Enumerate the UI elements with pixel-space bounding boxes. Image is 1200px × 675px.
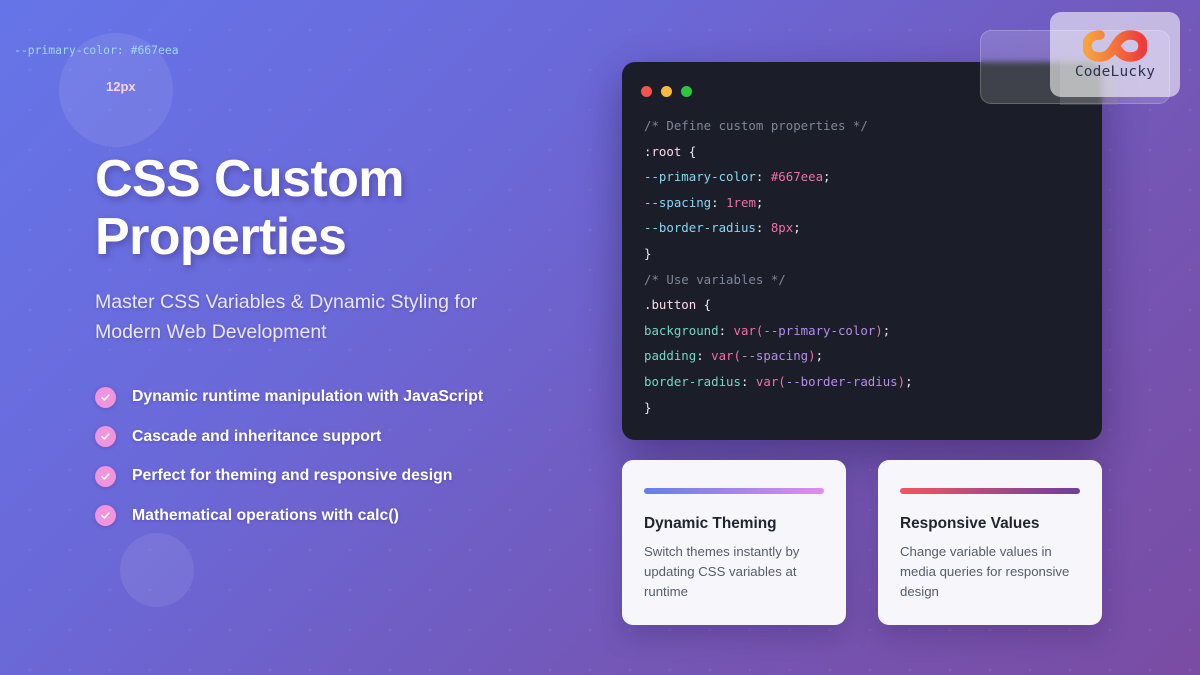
card-accent-bar xyxy=(644,488,824,494)
code-token: : xyxy=(719,323,734,338)
code-token: ; xyxy=(816,348,823,363)
badge-variable-text: --primary-color: #667eea xyxy=(14,43,179,57)
code-token: --border-radius xyxy=(786,374,898,389)
code-token: { xyxy=(696,297,711,312)
code-token: border-radius xyxy=(644,374,741,389)
code-token: 8px xyxy=(771,220,793,235)
code-token: /* Use variables */ xyxy=(644,272,786,287)
code-token: ) xyxy=(875,323,882,338)
watermark-label: CodeLucky xyxy=(1075,64,1155,80)
code-token: --spacing xyxy=(644,195,711,210)
check-circle-icon xyxy=(95,466,116,487)
code-token: ) xyxy=(808,348,815,363)
feature-cards-row: Dynamic ThemingSwitch themes instantly b… xyxy=(622,460,1102,625)
check-circle-icon xyxy=(95,387,116,408)
code-token: ; xyxy=(883,323,890,338)
code-token: 1rem xyxy=(726,195,756,210)
code-token: --border-radius xyxy=(644,220,756,235)
code-token: ) xyxy=(898,374,905,389)
watermark: CodeLucky xyxy=(1050,12,1180,97)
check-circle-icon xyxy=(95,426,116,447)
card-accent-bar xyxy=(900,488,1080,494)
badge-size-text: 12px xyxy=(106,79,136,94)
code-token: ; xyxy=(793,220,800,235)
feature-list-item-label: Mathematical operations with calc() xyxy=(132,507,399,525)
code-token: .button xyxy=(644,297,696,312)
code-token: --primary-color xyxy=(644,169,756,184)
code-token: ; xyxy=(756,195,763,210)
minimize-icon[interactable] xyxy=(661,86,672,97)
code-token: background xyxy=(644,323,719,338)
code-token: var( xyxy=(711,348,741,363)
feature-list-item-label: Dynamic runtime manipulation with JavaSc… xyxy=(132,388,483,406)
feature-list: Dynamic runtime manipulation with JavaSc… xyxy=(95,387,595,527)
code-token: : xyxy=(696,348,711,363)
code-token: ; xyxy=(905,374,912,389)
code-token: #667eea xyxy=(771,169,823,184)
code-line: :root { xyxy=(644,139,1094,165)
code-token: --spacing xyxy=(741,348,808,363)
code-token: var( xyxy=(756,374,786,389)
code-token: var( xyxy=(734,323,764,338)
check-circle-icon xyxy=(95,505,116,526)
feature-list-item-label: Cascade and inheritance support xyxy=(132,428,381,446)
feature-list-item: Cascade and inheritance support xyxy=(95,426,595,447)
code-line: --border-radius: 8px; xyxy=(644,215,1094,241)
infinity-logo-icon xyxy=(1083,29,1147,63)
code-line: --primary-color: #667eea; xyxy=(644,164,1094,190)
code-token: } xyxy=(644,400,651,415)
page-subtitle: Master CSS Variables & Dynamic Styling f… xyxy=(95,288,595,347)
window-controls xyxy=(641,86,692,97)
code-line: background: var(--primary-color); xyxy=(644,318,1094,344)
code-token: : xyxy=(756,220,771,235)
code-token: : xyxy=(711,195,726,210)
feature-list-item: Perfect for theming and responsive desig… xyxy=(95,466,595,487)
code-token: { xyxy=(681,144,696,159)
feature-card: Dynamic ThemingSwitch themes instantly b… xyxy=(622,460,846,625)
code-line: .button { xyxy=(644,292,1094,318)
code-line: --spacing: 1rem; xyxy=(644,190,1094,216)
card-title: Dynamic Theming xyxy=(644,515,824,533)
code-token: : xyxy=(741,374,756,389)
code-block: /* Define custom properties */:root {--p… xyxy=(644,113,1094,420)
code-token: } xyxy=(644,246,651,261)
feature-list-item: Mathematical operations with calc() xyxy=(95,505,595,526)
code-line: padding: var(--spacing); xyxy=(644,343,1094,369)
code-token: :root xyxy=(644,144,681,159)
feature-card: Responsive ValuesChange variable values … xyxy=(878,460,1102,625)
code-token: padding xyxy=(644,348,696,363)
card-description: Change variable values in media queries … xyxy=(900,542,1080,601)
code-token: : xyxy=(756,169,771,184)
feature-list-item-label: Perfect for theming and responsive desig… xyxy=(132,467,452,485)
maximize-icon[interactable] xyxy=(681,86,692,97)
hero-section: CSS Custom Properties Master CSS Variabl… xyxy=(95,150,595,545)
card-description: Switch themes instantly by updating CSS … xyxy=(644,542,824,601)
code-line: border-radius: var(--border-radius); xyxy=(644,369,1094,395)
code-token: /* Define custom properties */ xyxy=(644,118,868,133)
code-line: /* Define custom properties */ xyxy=(644,113,1094,139)
code-line: } xyxy=(644,395,1094,421)
code-token: ; xyxy=(823,169,830,184)
code-line: /* Use variables */ xyxy=(644,267,1094,293)
feature-list-item: Dynamic runtime manipulation with JavaSc… xyxy=(95,387,595,408)
page-title: CSS Custom Properties xyxy=(95,150,595,266)
code-line: } xyxy=(644,241,1094,267)
code-token: --primary-color xyxy=(763,323,875,338)
card-title: Responsive Values xyxy=(900,515,1080,533)
close-icon[interactable] xyxy=(641,86,652,97)
